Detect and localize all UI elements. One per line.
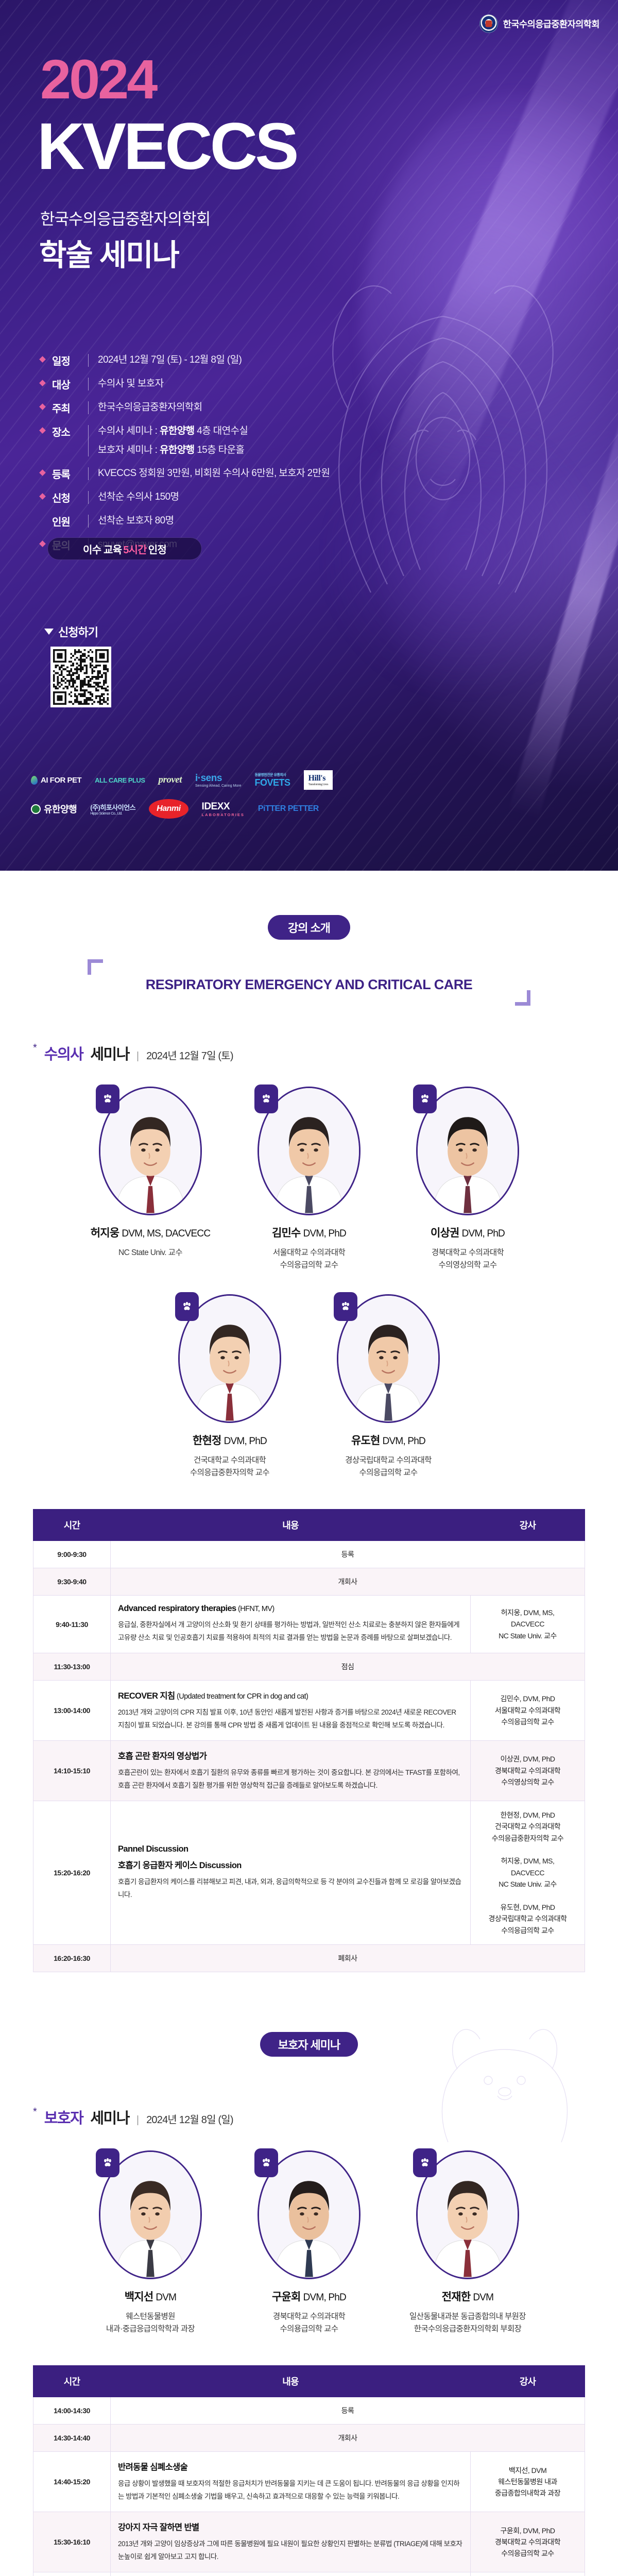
sponsor-provet-label: provet <box>158 774 182 786</box>
sponsor-row-2: 유한양행 (주)히포사이언스Hippo Science Co., Ltd. Ha… <box>31 799 402 819</box>
info-separator <box>88 401 89 414</box>
speaker-affiliation: 웨스턴동물병원내과·중급응급의학학과 과장 <box>89 2311 212 2335</box>
session-subtitle-2: 호흡기 응급환자 케이스 Discussion <box>118 1858 463 1871</box>
table-row: 9:30-9:40개회사 <box>33 1568 585 1596</box>
paw-icon <box>102 1093 113 1105</box>
speaker-photo-frame <box>99 1087 202 1215</box>
session-title: RECOVER 지침 (Updated treatment for CPR in… <box>118 1689 463 1701</box>
sponsor-hippo: (주)히포사이언스Hippo Science Co., Ltd. <box>90 799 135 819</box>
apply-label-text: 신청하기 <box>58 623 98 640</box>
info-value: 수의사 세미나 : 유한양행 4층 대연수실보호자 세미나 : 유한양행 15층… <box>98 424 248 457</box>
info-row: 인원 선착순 보호자 80명 <box>40 514 411 529</box>
guardian-schedule-table: 시간내용강사 14:00-14:30등록14:30-14:40개회사14:40-… <box>33 2365 585 2576</box>
sponsor-logos: AI FOR PET ALL CARE PLUS provet i·sensSe… <box>31 770 402 828</box>
vet-seminar-date: 2024년 12월 7일 (토) <box>146 1047 233 1062</box>
speaker-photo-frame <box>416 2150 519 2279</box>
speaker-name-korean: 한현정 <box>193 1435 221 1447</box>
speaker-affiliation-line: 경상국립대학교 수의과대학 <box>327 1454 450 1467</box>
info-row: 장소 수의사 세미나 : 유한양행 4층 대연수실보호자 세미나 : 유한양행 … <box>40 424 411 457</box>
table-column-header: 시간 <box>33 1510 111 1541</box>
speaker-name-korean: 유도현 <box>351 1435 380 1447</box>
info-value: 선착순 보호자 80명 <box>98 514 174 529</box>
schedule-time: 14:40-15:20 <box>33 2452 111 2512</box>
session-description: 2013년 개와 고양이의 CPR 지침 발표 이후, 10년 동안인 새롭게 … <box>118 1706 463 1732</box>
speaker-affiliation: 경북대학교 수의과대학수의용급의학 교수 <box>247 2311 371 2335</box>
qr-code[interactable] <box>50 647 111 707</box>
table-header-row: 시간내용강사 <box>33 1510 585 1541</box>
tree-icon <box>31 804 41 814</box>
speaker-name-korean: 이상권 <box>431 1227 459 1239</box>
info-label: 대상 <box>52 377 84 392</box>
speaker-photo-frame <box>337 1294 440 1423</box>
session-title: 호흡 곤란 환자의 영상법가 <box>118 1749 463 1761</box>
info-separator <box>88 491 89 504</box>
guardian-seminar-keyword: 보호자 <box>44 2106 83 2128</box>
speaker-name: 이상권 DVM, PhD <box>406 1225 529 1240</box>
speaker-credentials: DVM, PhD <box>383 1436 425 1447</box>
sponsor-aiforpet: AI FOR PET <box>31 770 81 790</box>
schedule-speaker: 구윤회, DVM, PhD경북대학교 수의과대학수의응급의학 교수 <box>471 2512 585 2572</box>
sponsor-aiforpet-label: AI FOR PET <box>41 776 81 785</box>
info-separator <box>88 378 89 391</box>
schedule-speaker: 이상권, DVM, PhD경북대학교 수의과대학수의영상의학 교수 <box>471 1740 585 1801</box>
vet-seminar-heading: * 수의사 세미나 | 2024년 12월 7일 (토) <box>33 1042 618 1064</box>
session-title: 반려동물 심폐소생술 <box>118 2460 463 2472</box>
speaker-name-korean: 백지선 <box>125 2291 153 2303</box>
society-name: 한국수의응급중환자의학회 <box>503 18 599 30</box>
info-label: 인원 <box>52 514 84 529</box>
paw-icon <box>261 1093 272 1105</box>
info-separator <box>88 515 89 528</box>
paw-badge <box>96 1084 119 1113</box>
paw-badge <box>413 2148 437 2177</box>
table-row: 14:10-15:10호흡 곤란 환자의 영상법가호흡곤란이 있는 환자에서 호… <box>33 1740 585 1801</box>
speaker-name: 김민수 DVM, PhD <box>247 1225 371 1240</box>
speaker-photo-frame <box>416 1087 519 1215</box>
session-title: Advanced respiratory therapies (HFNT, MV… <box>118 1604 463 1614</box>
speaker-card: 전재한 DVM 일산동물내과분 동급종합의내 부원장한국수의응급중환자의학회 부… <box>406 2150 529 2335</box>
session-description: 응급실, 중환자실에서 개 고양이의 산소화 및 환기 상태를 평가하는 방법과… <box>118 1619 463 1645</box>
bullet-diamond-icon <box>39 427 46 434</box>
speaker-credentials: DVM <box>473 2292 493 2303</box>
paw-badge <box>413 1084 437 1113</box>
schedule-content: 점심 <box>111 1653 585 1681</box>
guardian-seminar-date: 2024년 12월 8일 (일) <box>146 2111 233 2126</box>
schedule-time: 14:00-14:30 <box>33 2397 111 2425</box>
schedule-content: 폐회사 <box>111 1945 585 1972</box>
bullet-diamond-icon <box>39 493 46 500</box>
speaker-affiliation: NC State Univ. 교수 <box>89 1247 212 1259</box>
sponsor-isens: i·sensSensing Ahead, Caring More <box>195 770 242 790</box>
schedule-speaker: 허지웅, DVM, MS,DACVECCNC State Univ. 교수 <box>471 1596 585 1653</box>
speaker-card: 구윤회 DVM, PhD 경북대학교 수의과대학수의용급의학 교수 <box>247 2150 371 2335</box>
info-value: 수의사 및 보호자 <box>98 377 164 392</box>
info-value-line: 수의사 및 보호자 <box>98 377 164 392</box>
schedule-time: 9:30-9:40 <box>33 1568 111 1596</box>
info-value: 한국수의응급중환자의학회 <box>98 400 202 415</box>
schedule-content: 등록 <box>111 1541 585 1568</box>
info-value-line: 선착순 보호자 80명 <box>98 514 174 529</box>
hero-subtitle: 학술 세미나 <box>39 231 179 274</box>
table-row: 14:00-14:30등록 <box>33 2397 585 2425</box>
sponsor-pitter: PiTTER PETTER <box>258 799 319 819</box>
speaker-credentials: DVM, PhD <box>224 1436 267 1447</box>
speaker-affiliation-line: 내과·중급응급의학학과 과장 <box>89 2323 212 2335</box>
bullet-diamond-icon <box>39 403 46 410</box>
info-label: 장소 <box>52 424 84 439</box>
schedule-content: 등록 <box>111 2397 585 2425</box>
speaker-credentials: DVM, PhD <box>462 1228 505 1239</box>
info-row: 대상 수의사 및 보호자 <box>40 377 411 392</box>
info-value-line: KVECCS 정회원 3만원, 비회원 수의사 6만원, 보호자 2만원 <box>98 466 330 481</box>
vet-seminar-divider: | <box>136 1050 139 1062</box>
vet-speaker-row-2: 한현정 DVM, PhD 건국대학교 수의과대학수의응급중환자의학 교수 유도현 <box>0 1294 618 1479</box>
schedule-time: 14:10-15:10 <box>33 1740 111 1801</box>
qr-code-icon <box>53 649 109 705</box>
star-icon: * <box>33 2106 37 2118</box>
sponsor-hills-label: Hill's <box>308 774 325 783</box>
speaker-credentials: DVM, PhD <box>303 1228 346 1239</box>
info-label: 신청 <box>52 490 84 505</box>
speaker-card: 이상권 DVM, PhD 경북대학교 수의과대학수의영상의학 교수 <box>406 1087 529 1272</box>
info-value-line: 보호자 세미나 : 유한양행 15층 타운홀 <box>98 443 248 458</box>
bullet-diamond-icon <box>39 380 46 386</box>
table-row: 9:40-11:30Advanced respiratory therapies… <box>33 1596 585 1653</box>
info-label: 주최 <box>52 400 84 415</box>
schedule-time: 14:30-14:40 <box>33 2425 111 2452</box>
schedule-time: 15:20-16:20 <box>33 1801 111 1944</box>
vet-speaker-row-1: 허지웅 DVM, MS, DACVECC NC State Univ. 교수 김… <box>0 1087 618 1272</box>
schedule-time: 15:30-16:10 <box>33 2512 111 2572</box>
speaker-credentials: DVM, PhD <box>303 2292 346 2303</box>
schedule-content: 강아지 자극 잘하면 반별2013년 개와 고양이 임상증상과 그에 따른 동물… <box>111 2512 471 2572</box>
hero-banner: 한국수의응급중환자의학회 2024 KVECCS 한국수의응급중환자의학회 학술… <box>0 0 618 871</box>
guardian-seminar-label: 세미나 <box>90 2106 129 2128</box>
schedule-content: Pannel Discussion호흡기 응급환자 케이스 Discussion… <box>111 1801 471 1944</box>
sponsor-hippo-label: (주)히포사이언스 <box>90 804 135 811</box>
speaker-photo-frame <box>178 1294 281 1423</box>
info-separator <box>88 467 89 480</box>
session-description: 호흡곤란이 있는 환자에서 호흡기 질환의 유무와 종류를 빠르게 평가하는 것… <box>118 1767 463 1792</box>
guardian-seminar-section: 보호자 세미나 * 보호자 세미나 | 2024년 12월 8일 (일) 백지선 <box>0 2032 618 2576</box>
session-title: 강아지 자극 잘하면 반별 <box>118 2520 463 2533</box>
speaker-photo-frame <box>257 2150 360 2279</box>
speaker-credentials: DVM, MS, DACVECC <box>122 1228 210 1239</box>
info-label: 일정 <box>52 353 84 368</box>
speaker-name-korean: 김민수 <box>272 1227 301 1239</box>
table-row: 15:20-16:20Pannel Discussion호흡기 응급환자 케이스… <box>33 1801 585 1944</box>
speaker-photo-frame <box>257 1087 360 1215</box>
speaker-affiliation-line: 수의용급의학 교수 <box>247 2323 371 2335</box>
paw-icon <box>419 1093 431 1105</box>
schedule-time: 16:20-17:00 <box>33 2572 111 2576</box>
schedule-time: 11:30-13:00 <box>33 1653 111 1681</box>
session-description: 호흡기 응급환자의 케이스를 리뷰해보고 피견, 내과, 외과, 응급의학적으로… <box>118 1876 463 1902</box>
speaker-name: 전재한 DVM <box>406 2289 529 2304</box>
table-column-header: 강사 <box>471 1510 585 1541</box>
info-value-line: 한국수의응급중환자의학회 <box>98 400 202 415</box>
table-row: 9:00-9:30등록 <box>33 1541 585 1568</box>
sponsor-allcare: ALL CARE PLUS <box>95 770 145 790</box>
speaker-card: 한현정 DVM, PhD 건국대학교 수의과대학수의응급중환자의학 교수 <box>168 1294 291 1479</box>
paw-icon <box>181 1301 193 1312</box>
sponsor-fovets-tagline: 동물병원전문 유통회사 <box>254 772 290 777</box>
speaker-name: 백지선 DVM <box>89 2289 212 2304</box>
sponsor-pitter-label: PiTTER PETTER <box>258 805 319 813</box>
speaker-credentials: DVM <box>156 2292 176 2303</box>
info-row: 주최 한국수의응급중환자의학회 <box>40 400 411 415</box>
speaker-affiliation-line: 건국대학교 수의과대학 <box>168 1454 291 1467</box>
speaker-name-korean: 구윤회 <box>272 2291 301 2303</box>
paw-badge <box>96 2148 119 2177</box>
sponsor-hanmi-label: Hanmi <box>157 804 180 814</box>
bracket-top-left-icon <box>88 959 103 975</box>
speaker-name-korean: 전재한 <box>442 2291 471 2303</box>
info-value: KVECCS 정회원 3만원, 비회원 수의사 6만원, 보호자 2만원 <box>98 466 330 481</box>
table-row: 16:20-16:30폐회사 <box>33 1945 585 1972</box>
topic-title: RESPIRATORY EMERGENCY AND CRITICAL CARE <box>88 977 530 993</box>
credit-suffix: 인정 <box>148 541 166 556</box>
sponsor-idexx-label: IDEXX <box>202 801 230 812</box>
hero-organizer: 한국수의응급중환자의학회 <box>40 206 210 229</box>
table-row: 14:40-15:20반려동물 심폐소생술응급 상황이 발생했을 때 보호자의 … <box>33 2452 585 2512</box>
info-separator <box>88 354 89 367</box>
session-subtitle: (HFNT, MV) <box>236 1605 274 1613</box>
vet-seminar-keyword: 수의사 <box>44 1042 83 1064</box>
table-column-header: 내용 <box>111 1510 471 1541</box>
table-column-header: 강사 <box>471 2366 585 2397</box>
speaker-affiliation-line: 경북대학교 수의과대학 <box>406 1247 529 1259</box>
info-row: 일정 2024년 12월 7일 (토) - 12월 8일 (일) <box>40 353 411 368</box>
apply-link[interactable]: 신청하기 <box>44 623 98 640</box>
schedule-time: 9:00-9:30 <box>33 1541 111 1568</box>
schedule-time: 16:20-16:30 <box>33 1945 111 1972</box>
session-description: 2013년 개와 고양이 임상증상과 그에 따른 동물병원에 필요 내원이 필요… <box>118 2538 463 2564</box>
speaker-card: 허지웅 DVM, MS, DACVECC NC State Univ. 교수 <box>89 1087 212 1272</box>
schedule-content: 호흡 곤란 환자의 영상법가호흡곤란이 있는 환자에서 호흡기 질환의 유무와 … <box>111 1740 471 1801</box>
sponsor-allcare-label: ALL CARE PLUS <box>95 776 145 784</box>
sponsor-idexx: IDEXXLABORATORIES <box>202 799 245 819</box>
society-emblem-icon <box>479 14 498 33</box>
credit-badge: 이수 교육 5시간 인정 <box>47 537 202 560</box>
table-row: 16:20-17:00고양이에게 다발하는 주요 응급 질환고양이에게 반려하게… <box>33 2572 585 2576</box>
schedule-speaker: 백지선, DVM웨스턴동물병원 내과중급종합의내학과 과장 <box>471 2452 585 2512</box>
speaker-affiliation: 경북대학교 수의과대학수의영상의학 교수 <box>406 1247 529 1272</box>
speaker-affiliation-line: 서울대학교 수의과대학 <box>247 1247 371 1259</box>
session-description: 응급 상황이 발생했을 때 보호자의 적절한 응급처치가 반려동물을 지키는 데… <box>118 2478 463 2503</box>
info-separator <box>88 425 89 456</box>
speaker-card: 백지선 DVM 웨스턴동물병원내과·중급응급의학학과 과장 <box>89 2150 212 2335</box>
event-info-list: 일정 2024년 12월 7일 (토) - 12월 8일 (일) 대상 수의사 … <box>40 353 411 561</box>
bullet-diamond-icon <box>39 517 46 523</box>
speaker-name: 유도현 DVM, PhD <box>327 1432 450 1448</box>
speaker-affiliation: 경상국립대학교 수의과대학수의응급의학 교수 <box>327 1454 450 1479</box>
schedule-content: 고양이에게 다발하는 주요 응급 질환고양이에게 반려하게 발생하는 응급 질환… <box>111 2572 471 2576</box>
sponsor-hills-tagline: Transforming Lives <box>308 783 329 786</box>
speaker-affiliation-line: 경북대학교 수의과대학 <box>247 2311 371 2323</box>
schedule-time: 13:00-14:00 <box>33 1681 111 1741</box>
sponsor-isens-label: i·sens <box>195 773 222 784</box>
info-value: 선착순 수의사 150명 <box>98 490 179 505</box>
info-value-line: 수의사 세미나 : 유한양행 4층 대연수실 <box>98 424 248 439</box>
paw-badge <box>254 1084 278 1113</box>
table-column-header: 시간 <box>33 2366 111 2397</box>
table-row: 11:30-13:00점심 <box>33 1653 585 1681</box>
info-row: 신청 선착순 수의사 150명 <box>40 490 411 505</box>
speaker-affiliation-line: 수의응급의학 교수 <box>247 1259 371 1272</box>
speaker-card: 김민수 DVM, PhD 서울대학교 수의과대학수의응급의학 교수 <box>247 1087 371 1272</box>
schedule-content: RECOVER 지침 (Updated treatment for CPR in… <box>111 1681 471 1741</box>
info-value-line: 2024년 12월 7일 (토) - 12월 8일 (일) <box>98 353 242 368</box>
session-subtitle: (Updated treatment for CPR in dog and ca… <box>175 1692 308 1701</box>
table-row: 14:30-14:40개회사 <box>33 2425 585 2452</box>
table-column-header: 내용 <box>111 2366 471 2397</box>
vet-schedule-table: 시간내용강사 9:00-9:30등록9:30-9:40개회사9:40-11:30… <box>33 1509 585 1972</box>
speaker-affiliation: 건국대학교 수의과대학수의응급중환자의학 교수 <box>168 1454 291 1479</box>
schedule-time: 9:40-11:30 <box>33 1596 111 1653</box>
table-header-row: 시간내용강사 <box>33 2366 585 2397</box>
speaker-affiliation-line: 한국수의응급중환자의학회 부회장 <box>406 2323 529 2335</box>
schedule-content: 개회사 <box>111 2425 585 2452</box>
speaker-card: 유도현 DVM, PhD 경상국립대학교 수의과대학수의응급의학 교수 <box>327 1294 450 1479</box>
caret-down-icon <box>44 629 54 635</box>
paw-icon <box>102 2157 113 2168</box>
sponsor-provet: provet <box>158 770 182 790</box>
schedule-content: 반려동물 심폐소생술응급 상황이 발생했을 때 보호자의 적절한 응급처치가 반… <box>111 2452 471 2512</box>
guardian-speaker-row: 백지선 DVM 웨스턴동물병원내과·중급응급의학학과 과장 구윤회 DV <box>0 2150 618 2335</box>
speaker-affiliation-line: NC State Univ. 교수 <box>89 1247 212 1259</box>
section-pill-lecture-intro: 강의 소개 <box>268 915 350 940</box>
star-icon: * <box>33 1042 37 1054</box>
hero-title: KVECCS <box>37 116 296 177</box>
speaker-affiliation-line: 웨스턴동물병원 <box>89 2311 212 2323</box>
info-label: 등록 <box>52 466 84 481</box>
topic-banner: RESPIRATORY EMERGENCY AND CRITICAL CARE <box>88 977 530 993</box>
bullet-diamond-icon <box>39 356 46 363</box>
credit-hours: 5시간 <box>123 541 147 556</box>
bullet-diamond-icon <box>39 540 46 547</box>
info-value-line: 선착순 수의사 150명 <box>98 490 179 505</box>
bullet-diamond-icon <box>39 469 46 476</box>
sponsor-hippo-tagline: Hippo Science Co., Ltd. <box>90 812 135 816</box>
leaf-icon <box>31 776 38 785</box>
table-row: 15:30-16:10강아지 자극 잘하면 반별2013년 개와 고양이 임상증… <box>33 2512 585 2572</box>
schedule-content: 개회사 <box>111 1568 585 1596</box>
lecture-intro-section: 강의 소개 RESPIRATORY EMERGENCY AND CRITICAL… <box>0 915 618 1988</box>
paw-icon <box>419 2157 431 2168</box>
speaker-name-korean: 허지웅 <box>91 1227 119 1239</box>
speaker-name: 한현정 DVM, PhD <box>168 1432 291 1448</box>
sponsor-yuhan: 유한양행 <box>31 799 77 819</box>
speaker-affiliation-line: 수의응급중환자의학 교수 <box>168 1467 291 1479</box>
speaker-photo-frame <box>99 2150 202 2279</box>
vet-seminar-label: 세미나 <box>90 1042 129 1064</box>
sponsor-hanmi: Hanmi <box>149 799 188 819</box>
speaker-name: 구윤회 DVM, PhD <box>247 2289 371 2304</box>
society-logo: 한국수의응급중환자의학회 <box>479 14 599 33</box>
speaker-affiliation: 일산동물내과분 동급종합의내 부원장한국수의응급중환자의학회 부회장 <box>406 2311 529 2335</box>
paw-badge <box>334 1292 357 1321</box>
info-row: 등록 KVECCS 정회원 3만원, 비회원 수의사 6만원, 보호자 2만원 <box>40 466 411 481</box>
sponsor-fovets: 동물병원전문 유통회사FOVETS <box>254 770 290 790</box>
sponsor-idexx-tagline: LABORATORIES <box>202 812 245 817</box>
paw-badge <box>254 2148 278 2177</box>
bracket-bottom-right-icon <box>515 990 530 1006</box>
credit-prefix: 이수 교육 <box>83 541 122 556</box>
dog-outline-icon <box>427 2019 582 2147</box>
schedule-speaker: 김민수, DVM, PhD서울대학교 수의과대학수의응급의학 교수 <box>471 1681 585 1741</box>
hero-year: 2024 <box>40 54 156 105</box>
schedule-content: Advanced respiratory therapies (HFNT, MV… <box>111 1596 471 1653</box>
session-title: Pannel Discussion <box>118 1844 463 1854</box>
speaker-affiliation-line: 수의응급의학 교수 <box>327 1467 450 1479</box>
paw-icon <box>340 1301 351 1312</box>
speaker-affiliation: 서울대학교 수의과대학수의응급의학 교수 <box>247 1247 371 1272</box>
info-value: 2024년 12월 7일 (토) - 12월 8일 (일) <box>98 353 242 368</box>
sponsor-yuhan-label: 유한양행 <box>44 802 77 816</box>
speaker-affiliation-line: 일산동물내과분 동급종합의내 부원장 <box>406 2311 529 2323</box>
speaker-affiliation-line: 수의영상의학 교수 <box>406 1259 529 1272</box>
section-pill-guardian: 보호자 세미나 <box>260 2032 358 2057</box>
paw-badge <box>175 1292 199 1321</box>
schedule-speaker: 전재한, DVM일산동물내과분 부원장한국수의응급중환자의학회 부회장 <box>471 2572 585 2576</box>
paw-icon <box>261 2157 272 2168</box>
sponsor-fovets-label: FOVETS <box>254 777 290 788</box>
sponsor-hills: Hill'sTransforming Lives <box>304 770 333 790</box>
schedule-speaker: 한현정, DVM, PhD건국대학교 수의과대학수의응급중환자의학 교수허지웅,… <box>471 1801 585 1944</box>
guardian-seminar-divider: | <box>136 2114 139 2126</box>
speaker-name: 허지웅 DVM, MS, DACVECC <box>89 1225 212 1240</box>
sponsor-isens-tagline: Sensing Ahead, Caring More <box>195 784 242 788</box>
sponsor-row-1: AI FOR PET ALL CARE PLUS provet i·sensSe… <box>31 770 402 790</box>
table-row: 13:00-14:00RECOVER 지침 (Updated treatment… <box>33 1681 585 1741</box>
